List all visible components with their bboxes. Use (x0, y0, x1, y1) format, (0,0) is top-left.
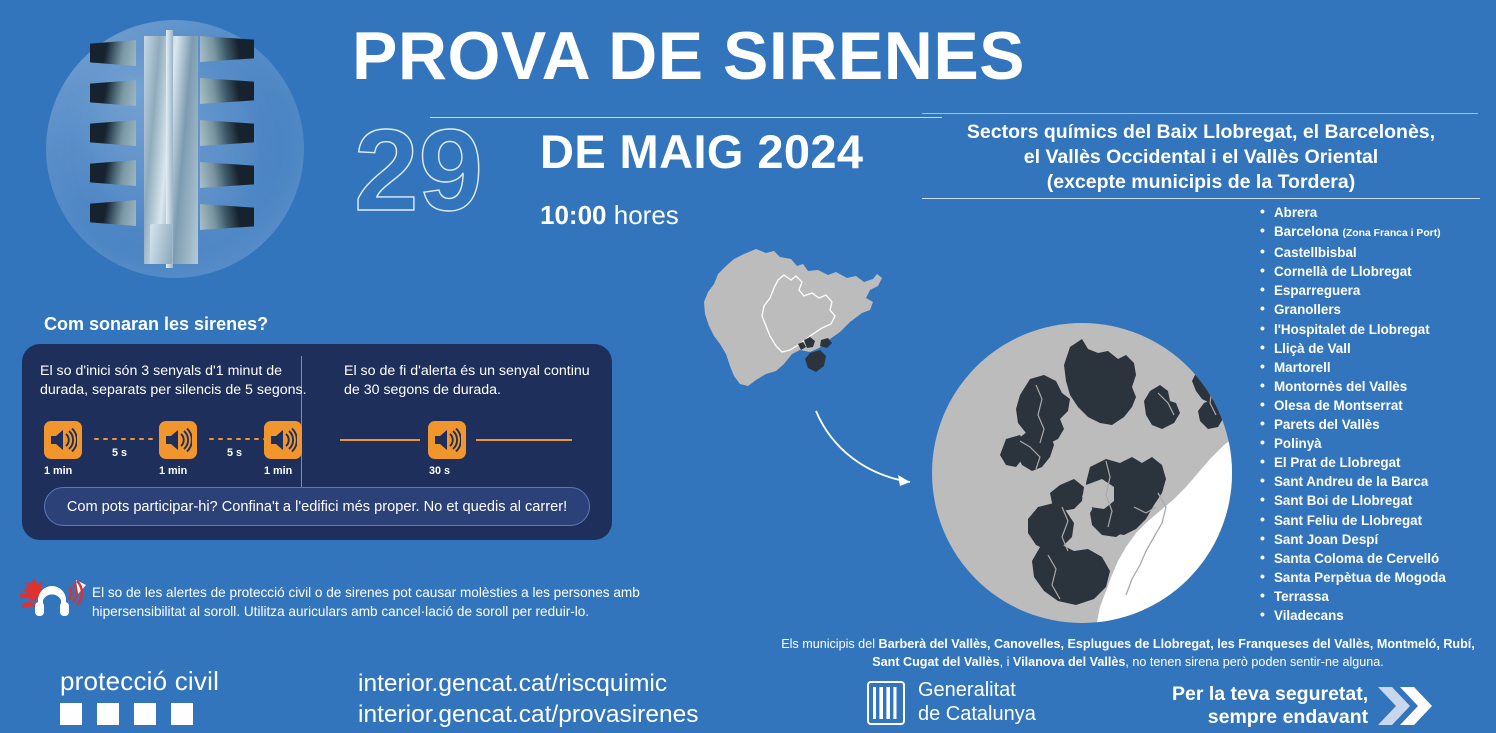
end-signal-label: 30 s (429, 465, 450, 477)
proteccio-civil-squares-icon (60, 703, 219, 725)
proteccio-civil-label: protecció civil (60, 668, 219, 694)
url-riscquimic[interactable]: interior.gencat.cat/riscquimic (358, 668, 698, 699)
generalitat-line1: Generalitat (918, 679, 1036, 703)
list-item: Parets del Vallès (1258, 415, 1496, 434)
sector-title-line3: (excepte municipis de la Tordera) (922, 170, 1480, 195)
generalitat-line2: de Catalunya (918, 703, 1036, 727)
municipality-name: Cornellà de Llobregat (1274, 264, 1412, 279)
list-item: Sant Boi de Llobregat (1258, 491, 1496, 510)
municipality-name: Sant Boi de Llobregat (1274, 493, 1412, 508)
sector-title: Sectors químics del Baix Llobregat, el B… (922, 120, 1480, 195)
slogan-text: Per la teva seguretat, sempre endavant (1172, 683, 1368, 730)
municipality-name: El Prat de Llobregat (1274, 455, 1401, 470)
zoom-detail-map (910, 307, 1254, 627)
sector-title-line1: Sectors químics del Baix Llobregat, el B… (922, 120, 1480, 145)
safety-slogan: Per la teva seguretat, sempre endavant (1172, 681, 1438, 731)
list-item: El Prat de Llobregat (1258, 453, 1496, 472)
municipality-name: Viladecans (1274, 608, 1344, 623)
siren-array-icon (88, 36, 273, 264)
list-item: Olesa de Montserrat (1258, 396, 1496, 415)
municipality-name: Terrassa (1274, 589, 1329, 604)
end-line-right (476, 439, 572, 441)
slogan-line2: sempre endavant (1172, 706, 1368, 729)
municipality-name: Martorell (1274, 360, 1331, 375)
gap-label-2: 5 s (227, 447, 242, 459)
list-item: Martorell (1258, 358, 1496, 377)
municipality-list: AbreraBarcelona (Zona Franca i Port)Cast… (1258, 203, 1496, 625)
sector-divider-bottom (922, 198, 1480, 199)
url-block[interactable]: interior.gencat.cat/riscquimic interior.… (358, 668, 698, 731)
municipality-name: Santa Perpètua de Mogoda (1274, 570, 1446, 585)
list-item: Sant Joan Despí (1258, 530, 1496, 549)
municipality-name: Montornès del Vallès (1274, 379, 1407, 394)
signal-label-3: 1 min (264, 465, 292, 477)
list-item: l'Hospitalet de Llobregat (1258, 320, 1496, 339)
gap-label-1: 5 s (112, 447, 127, 459)
speaker-icon-2 (159, 421, 197, 459)
how-heading: Com sonaran les sirenes? (44, 314, 268, 335)
participate-banner: Com pots participar-hi? Confina't a l'ed… (44, 487, 590, 526)
list-item: Lliçà de Vall (1258, 339, 1496, 358)
municipality-subnote: (Zona Franca i Port) (1342, 228, 1440, 239)
speaker-icon-end (428, 421, 466, 459)
list-item: Cornellà de Llobregat (1258, 262, 1496, 281)
siren-photo (38, 14, 310, 286)
list-item: Sant Feliu de Llobregat (1258, 511, 1496, 530)
generalitat-logo: Generalitat de Catalunya (866, 679, 1036, 726)
note-bold2: Vilanova del Vallès (1013, 655, 1125, 669)
catalonia-map (690, 240, 922, 426)
municipality-name: Polinyà (1274, 436, 1322, 451)
sector-title-line2: el Vallès Occidental i el Vallès Orienta… (922, 145, 1480, 170)
list-item: Santa Perpètua de Mogoda (1258, 568, 1496, 587)
municipality-name: Sant Andreu de la Barca (1274, 474, 1428, 489)
event-hour-value: 10:00 (540, 200, 607, 230)
event-hour: 10:00 hores (540, 202, 679, 228)
signal-label-2: 1 min (159, 465, 187, 477)
title-divider (430, 117, 942, 118)
speaker-icon-1 (44, 421, 82, 459)
generalitat-text: Generalitat de Catalunya (918, 679, 1036, 726)
municipality-name: Barcelona (1274, 224, 1339, 239)
event-date: DE MAIG 2024 (540, 128, 863, 175)
municipality-name: l'Hospitalet de Llobregat (1274, 322, 1430, 337)
double-chevron-right-icon (1376, 681, 1438, 731)
event-hour-word: hores (614, 200, 679, 230)
hypersensitivity-text: El so de les alertes de protecció civil … (92, 583, 692, 622)
signal-label-1: 1 min (44, 465, 72, 477)
municipality-name: Sant Feliu de Llobregat (1274, 513, 1422, 528)
municipality-name: Parets del Vallès (1274, 417, 1380, 432)
municipality-name: Granollers (1274, 302, 1341, 317)
url-provasirenes[interactable]: interior.gencat.cat/provasirenes (358, 699, 698, 730)
note-suffix: , no tenen sirena però poden sentir-ne a… (1125, 655, 1383, 669)
note-prefix: Els municipis del (781, 637, 878, 651)
list-item: Polinyà (1258, 434, 1496, 453)
list-item: Castellbisbal (1258, 243, 1496, 262)
municipality-name: Olesa de Montserrat (1274, 398, 1403, 413)
noise-sensitivity-icon (18, 574, 88, 620)
page-title: PROVA DE SIRENES (352, 22, 1025, 90)
municipality-name: Lliçà de Vall (1274, 341, 1351, 356)
gap-dots-2 (207, 437, 269, 441)
list-item: Terrassa (1258, 587, 1496, 606)
list-item: Santa Coloma de Cervelló (1258, 549, 1496, 568)
event-day: 29 (354, 112, 483, 228)
municipality-name: Esparreguera (1274, 283, 1360, 298)
end-line-left (340, 439, 420, 441)
municipality-name: Castellbisbal (1274, 245, 1357, 260)
end-signal-description: El so de fi d'alerta és un senyal contin… (344, 362, 598, 399)
start-signal-description: El so d'inici són 3 senyals d'1 minut de… (40, 362, 320, 399)
note-mid: , i (1000, 655, 1013, 669)
list-item: Esparreguera (1258, 281, 1496, 300)
municipality-name: Abrera (1274, 205, 1317, 220)
sector-divider-top (922, 113, 1478, 114)
poster-root: PROVA DE SIRENES 29 DE MAIG 2024 10:00 h… (0, 0, 1496, 733)
list-item: Montornès del Vallès (1258, 377, 1496, 396)
municipality-name: Santa Coloma de Cervelló (1274, 551, 1439, 566)
list-item: Sant Andreu de la Barca (1258, 472, 1496, 491)
list-item: Barcelona (Zona Franca i Port) (1258, 222, 1496, 243)
list-item: Abrera (1258, 203, 1496, 222)
proteccio-civil-logo: protecció civil (60, 668, 219, 725)
municipalities-without-siren-note: Els municipis del Barberà del Vallès, Ca… (766, 635, 1490, 672)
municipality-name: Sant Joan Despí (1274, 532, 1378, 547)
gap-dots-1 (92, 437, 154, 441)
speaker-icon-3 (264, 421, 302, 459)
generalitat-shield-icon (866, 680, 906, 726)
slogan-line1: Per la teva seguretat, (1172, 683, 1368, 706)
list-item: Granollers (1258, 300, 1496, 319)
list-item: Viladecans (1258, 606, 1496, 625)
